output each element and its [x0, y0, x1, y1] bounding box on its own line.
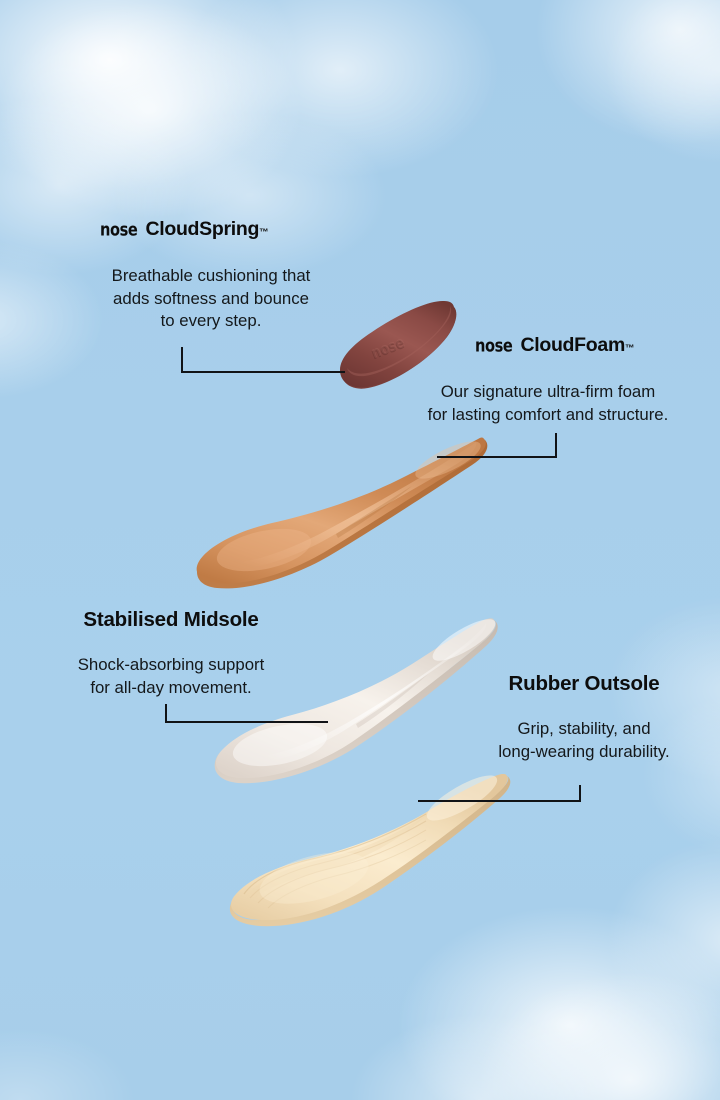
callout-heading-outsole: Rubber Outsole: [460, 672, 708, 696]
cloud-top-right: [480, 0, 720, 190]
leader-tick: [555, 433, 557, 458]
callout-cloudspring: noseCloudSpring™ Breathable cushioning t…: [66, 218, 356, 333]
cloud-bottom-right: [560, 800, 720, 1080]
body-line: adds softness and bounce: [113, 289, 309, 308]
callout-heading-midsole: Stabilised Midsole: [40, 608, 302, 632]
callout-outsole: Rubber Outsole Grip, stability, and long…: [460, 672, 708, 763]
cloud-top-right: [560, 0, 720, 200]
body-line: Grip, stability, and: [517, 719, 650, 738]
leader-line-cloudspring: [181, 347, 345, 373]
callout-body-outsole: Grip, stability, and long-wearing durabi…: [460, 718, 708, 763]
leader-rule: [418, 800, 581, 802]
leader-line-cloudfoam: [437, 433, 557, 458]
leader-line-outsole: [418, 785, 581, 802]
cloud-bottom-left: [0, 1000, 180, 1100]
callout-body-cloudfoam: Our signature ultra-firm foam for lastin…: [398, 381, 698, 426]
callout-body-midsole: Shock-absorbing support for all-day move…: [40, 654, 302, 699]
leader-line-midsole: [165, 704, 328, 723]
brand-mark-nose: nose: [475, 335, 512, 356]
brand-mark-nose: nose: [100, 219, 137, 240]
cloud-top-left: [120, 0, 560, 220]
leader-rule: [165, 721, 328, 723]
callout-cloudfoam: noseCloudFoam™ Our signature ultra-firm …: [398, 334, 698, 426]
product-name: CloudSpring: [145, 218, 259, 241]
body-line: Breathable cushioning that: [112, 266, 311, 285]
body-line: Our signature ultra-firm foam: [441, 382, 656, 401]
product-name: CloudFoam: [520, 334, 625, 357]
callout-midsole: Stabilised Midsole Shock-absorbing suppo…: [40, 608, 302, 699]
callout-heading-cloudspring: noseCloudSpring™: [66, 218, 356, 241]
leader-tick: [181, 347, 183, 373]
leader-rule: [437, 456, 557, 458]
leader-rule: [181, 371, 345, 373]
trademark-symbol: ™: [625, 343, 635, 354]
cloud-bottom-right: [300, 980, 660, 1100]
cloud-top-left: [0, 0, 370, 240]
product-anatomy-poster: nose nose: [0, 0, 720, 1100]
body-line: for lasting comfort and structure.: [428, 405, 669, 424]
body-line: Shock-absorbing support: [78, 655, 265, 674]
callout-body-cloudspring: Breathable cushioning that adds softness…: [66, 265, 356, 333]
body-line: for all-day movement.: [90, 678, 251, 697]
cloud-bottom-right: [420, 930, 720, 1100]
trademark-symbol: ™: [259, 227, 269, 238]
body-line: to every step.: [161, 311, 262, 330]
body-line: long-wearing durability.: [498, 742, 669, 761]
callout-heading-cloudfoam: noseCloudFoam™: [398, 334, 698, 357]
